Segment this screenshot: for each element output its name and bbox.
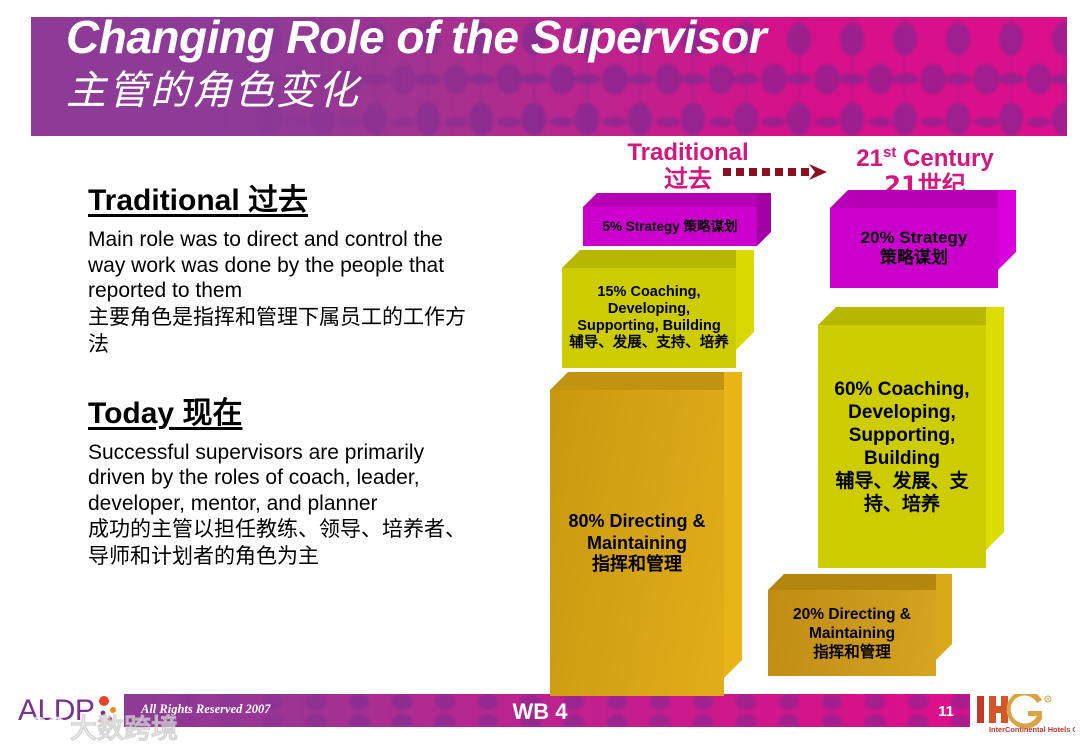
chart-column-header-century21: 21st Century 21世纪 — [810, 140, 1040, 198]
section-heading-traditional-zh: 过去 — [248, 183, 308, 218]
block-label-zh: 策略谋划 — [861, 248, 968, 269]
chart-block-traditional-strategy: 5% Strategy 策略谋划 — [583, 207, 757, 246]
block-label-en: 60% Coaching, Developing, Supporting, Bu… — [824, 378, 980, 470]
chart-block-traditional-directing: 80% Directing & Maintaining 指挥和管理 — [550, 390, 724, 696]
slide-title-chinese: 主管的角色变化 — [66, 58, 360, 116]
block-side-face — [986, 307, 1004, 568]
block-label-zh: 指挥和管理 — [556, 554, 718, 576]
section-body-traditional-en: Main role was to direct and control the … — [88, 227, 478, 304]
slide-title-english: Changing Role of the Supervisor — [66, 10, 766, 64]
block-front-face: 80% Directing & Maintaining 指挥和管理 — [550, 390, 724, 696]
slide-root: Changing Role of the Supervisor 主管的角色变化 … — [0, 0, 1080, 747]
block-top-face — [562, 250, 736, 268]
chart-column-header-century21-en: 21st Century — [810, 140, 1040, 172]
stacked-bar-chart: Traditional 过去 21st Century 21世纪 — [530, 140, 1075, 700]
block-top-face — [583, 193, 757, 207]
block-front-face: 60% Coaching, Developing, Supporting, Bu… — [818, 325, 986, 568]
chart-block-century21-directing: 20% Directing & Maintaining 指挥和管理 — [768, 590, 936, 676]
svg-text:InterContinental Hotels Group: InterContinental Hotels Group — [989, 725, 1075, 734]
chart-column-header-traditional-en: Traditional — [588, 140, 788, 166]
block-label-zh: 辅导、发展、支持、培养 — [568, 335, 730, 352]
block-label-en: 20% Directing & Maintaining — [774, 605, 930, 643]
section-body-today-zh: 成功的主管以担任教练、领导、培养者、导师和计划者的角色为主 — [88, 516, 478, 570]
section-heading-traditional-en: Traditional — [88, 184, 240, 217]
block-label-en: 20% Strategy — [861, 227, 968, 248]
block-label-zh: 策略谋划 — [684, 219, 738, 235]
century-ordinal-suffix: st — [883, 144, 896, 161]
block-side-face — [936, 574, 952, 676]
century-word: Century — [896, 145, 993, 172]
block-top-face — [818, 307, 986, 325]
footer-page-number: 11 — [931, 703, 961, 720]
block-top-face — [550, 372, 724, 390]
section-heading-traditional: Traditional 过去 — [88, 175, 478, 219]
block-label-en: 15% Coaching, Developing, Supporting, Bu… — [568, 284, 730, 335]
section-body-traditional-zh: 主要角色是指挥和管理下属员工的工作方法 — [88, 304, 478, 358]
block-side-face — [757, 193, 771, 246]
section-body-today-en: Successful supervisors are primarily dri… — [88, 440, 478, 517]
dotted-arrow-right-icon — [723, 164, 827, 180]
block-label-en: 80% Directing & Maintaining — [556, 510, 718, 554]
block-front-face: 20% Directing & Maintaining 指挥和管理 — [768, 590, 936, 676]
chart-block-traditional-coaching: 15% Coaching, Developing, Supporting, Bu… — [562, 268, 736, 368]
left-content-column: Traditional 过去 Main role was to direct a… — [88, 175, 478, 570]
ihg-logo: R InterContinental Hotels Group — [975, 694, 1075, 736]
century-number: 21 — [856, 145, 883, 172]
block-front-face: 20% Strategy 策略谋划 — [830, 208, 998, 288]
block-front-face: 5% Strategy 策略谋划 — [583, 207, 757, 246]
block-top-face — [768, 574, 936, 590]
block-front-face: 15% Coaching, Developing, Supporting, Bu… — [562, 268, 736, 368]
chart-block-century21-coaching: 60% Coaching, Developing, Supporting, Bu… — [818, 325, 986, 568]
watermark-overlay: 大数跨境 — [4, 706, 184, 746]
block-label-zh: 指挥和管理 — [774, 643, 930, 662]
section-heading-today-en: Today — [88, 397, 174, 430]
block-side-face — [736, 250, 754, 368]
section-heading-today: Today 现在 — [88, 388, 478, 432]
block-side-face — [724, 372, 742, 696]
block-side-face — [998, 190, 1016, 288]
block-label-zh: 辅导、发展、支持、培养 — [824, 470, 980, 516]
chart-block-century21-strategy: 20% Strategy 策略谋划 — [830, 208, 998, 288]
block-label-en: 5% Strategy — [602, 219, 679, 234]
section-heading-today-zh: 现在 — [182, 396, 242, 431]
svg-text:大数跨境: 大数跨境 — [70, 714, 178, 745]
block-top-face — [830, 190, 998, 208]
